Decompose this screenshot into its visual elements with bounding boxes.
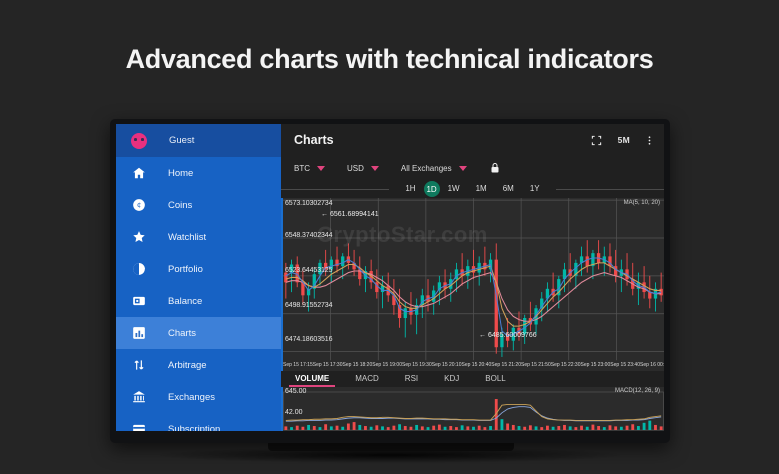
x-tick-label: Sep 15 23:40 [610, 362, 640, 371]
sidebar-item-label: Exchanges [168, 392, 215, 403]
app-screen: Guest Home ¢ Coins [116, 124, 664, 431]
x-tick-label: Sep 15 19:30 [402, 362, 432, 371]
avatar-icon [131, 133, 147, 149]
x-tick-label: Sep 15 17:15 [283, 362, 313, 371]
home-icon [131, 166, 146, 181]
exchange-dropdown[interactable]: All Exchanges [401, 164, 467, 173]
quote-currency-label: USD [347, 164, 364, 173]
y-tick-label: 6573.10302734 [285, 200, 332, 207]
candlestick-chart[interactable]: CryptoStar.com MA(5, 10, 20) 6573.103027… [281, 198, 664, 371]
coin-icon: ¢ [131, 198, 146, 213]
ma-legend: MA(5, 10, 20) [624, 200, 660, 206]
x-tick-label: Sep 15 20:40 [462, 362, 492, 371]
timeframe-6m[interactable]: 6M [495, 182, 522, 196]
wallet-icon [131, 294, 146, 309]
x-tick-label: Sep 16 00:10 [640, 362, 664, 371]
x-tick-label: Sep 15 22:30 [551, 362, 581, 371]
pie-chart-icon [131, 262, 146, 277]
indicator-legend: MACD(12, 26, 9) [615, 388, 660, 394]
sidebar-user-name: Guest [169, 135, 194, 146]
divider-right [556, 189, 664, 190]
svg-text:¢: ¢ [136, 201, 140, 210]
indicator-panel[interactable]: MACD(12, 26, 9) 645.00 42.00 [281, 387, 664, 431]
sidebar-user-row[interactable]: Guest [116, 124, 281, 157]
indicator-tabs: VOLUME MACD RSI KDJ BOLL [281, 371, 664, 387]
x-tick-label: Sep 15 18:20 [343, 362, 373, 371]
fullscreen-icon[interactable] [591, 135, 602, 146]
x-tick-label: Sep 15 23:00 [581, 362, 611, 371]
exchange-label: All Exchanges [401, 164, 452, 173]
chevron-down-icon [371, 166, 379, 171]
sidebar-item-portfolio[interactable]: Portfolio [116, 253, 281, 285]
interval-label[interactable]: 5M [618, 135, 630, 145]
sidebar-item-label: Home [168, 168, 193, 179]
sidebar-item-coins[interactable]: ¢ Coins [116, 189, 281, 221]
filter-bar: BTC USD All Exchanges [281, 156, 664, 180]
device-frame: Guest Home ¢ Coins [110, 119, 670, 443]
bar-chart-icon [131, 326, 146, 341]
chart-plot-area: CryptoStar.com MA(5, 10, 20) 6573.103027… [283, 198, 664, 371]
sidebar-item-label: Arbitrage [168, 360, 207, 371]
timeframe-1y[interactable]: 1Y [522, 182, 548, 196]
tab-rsi[interactable]: RSI [399, 371, 424, 387]
chevron-down-icon [317, 166, 325, 171]
sidebar-item-label: Portfolio [168, 264, 203, 275]
sidebar-item-label: Coins [168, 200, 192, 211]
lock-icon[interactable] [489, 162, 501, 174]
base-currency-label: BTC [294, 164, 310, 173]
page-title: Advanced charts with technical indicator… [0, 44, 779, 75]
chart-annotation: ← 6561.68994141 [321, 211, 379, 218]
divider-left [281, 189, 389, 190]
x-tick-label: Sep 15 19:00 [372, 362, 402, 371]
timeframe-1h[interactable]: 1H [397, 182, 423, 196]
indicator-y-tick: 645.00 [285, 388, 306, 395]
y-tick-label: 6474.18603516 [285, 336, 332, 343]
app-topbar: Charts 5M [281, 124, 664, 156]
screenshot-root: Advanced charts with technical indicator… [0, 0, 779, 474]
sidebar-item-label: Watchlist [168, 232, 206, 243]
tab-macd[interactable]: MACD [349, 371, 385, 387]
topbar-title: Charts [294, 133, 577, 147]
x-axis-labels: Sep 15 17:15Sep 15 17:30Sep 15 18:20Sep … [283, 362, 664, 371]
timeframe-1m[interactable]: 1M [468, 182, 495, 196]
sidebar-item-subscription[interactable]: Subscription [116, 413, 281, 431]
x-tick-label: Sep 15 21:20 [491, 362, 521, 371]
tab-boll[interactable]: BOLL [479, 371, 511, 387]
indicator-y-tick: 42.00 [285, 409, 303, 416]
y-tick-label: 6498.91552734 [285, 302, 332, 309]
x-tick-label: Sep 15 17:30 [313, 362, 343, 371]
sidebar-item-label: Balance [168, 296, 202, 307]
timeframe-options: 1H 1D 1W 1M 6M 1Y [389, 181, 555, 197]
more-vertical-icon[interactable] [644, 135, 655, 146]
main-content: Charts 5M BTC USD [281, 124, 664, 431]
indicator-canvas [283, 387, 664, 431]
chart-annotation: ← 6485.60009766 [479, 332, 537, 339]
device-stand [268, 443, 514, 451]
card-icon [131, 422, 146, 432]
chart-canvas [283, 198, 664, 371]
sidebar-item-watchlist[interactable]: Watchlist [116, 221, 281, 253]
quote-currency-dropdown[interactable]: USD [347, 164, 379, 173]
tab-kdj[interactable]: KDJ [438, 371, 465, 387]
tab-volume[interactable]: VOLUME [289, 371, 335, 387]
sidebar-item-charts[interactable]: Charts [116, 317, 281, 349]
base-currency-dropdown[interactable]: BTC [294, 164, 325, 173]
star-icon [131, 230, 146, 245]
y-tick-label: 6523.64453125 [285, 267, 332, 274]
sidebar-item-home[interactable]: Home [116, 157, 281, 189]
sidebar-item-exchanges[interactable]: Exchanges [116, 381, 281, 413]
sidebar-item-arbitrage[interactable]: Arbitrage [116, 349, 281, 381]
timeframe-1d[interactable]: 1D [424, 181, 440, 197]
x-tick-label: Sep 15 20:10 [432, 362, 462, 371]
x-tick-label: Sep 15 21:50 [521, 362, 551, 371]
sidebar-item-label: Charts [168, 328, 196, 339]
sidebar-item-balance[interactable]: Balance [116, 285, 281, 317]
sidebar: Guest Home ¢ Coins [116, 124, 281, 431]
chevron-down-icon [459, 166, 467, 171]
bank-icon [131, 390, 146, 405]
arrows-updown-icon [131, 358, 146, 373]
timeframe-1w[interactable]: 1W [440, 182, 468, 196]
timeframe-bar: 1H 1D 1W 1M 6M 1Y [281, 180, 664, 198]
sidebar-item-label: Subscription [168, 424, 220, 432]
y-tick-label: 6548.37402344 [285, 232, 332, 239]
